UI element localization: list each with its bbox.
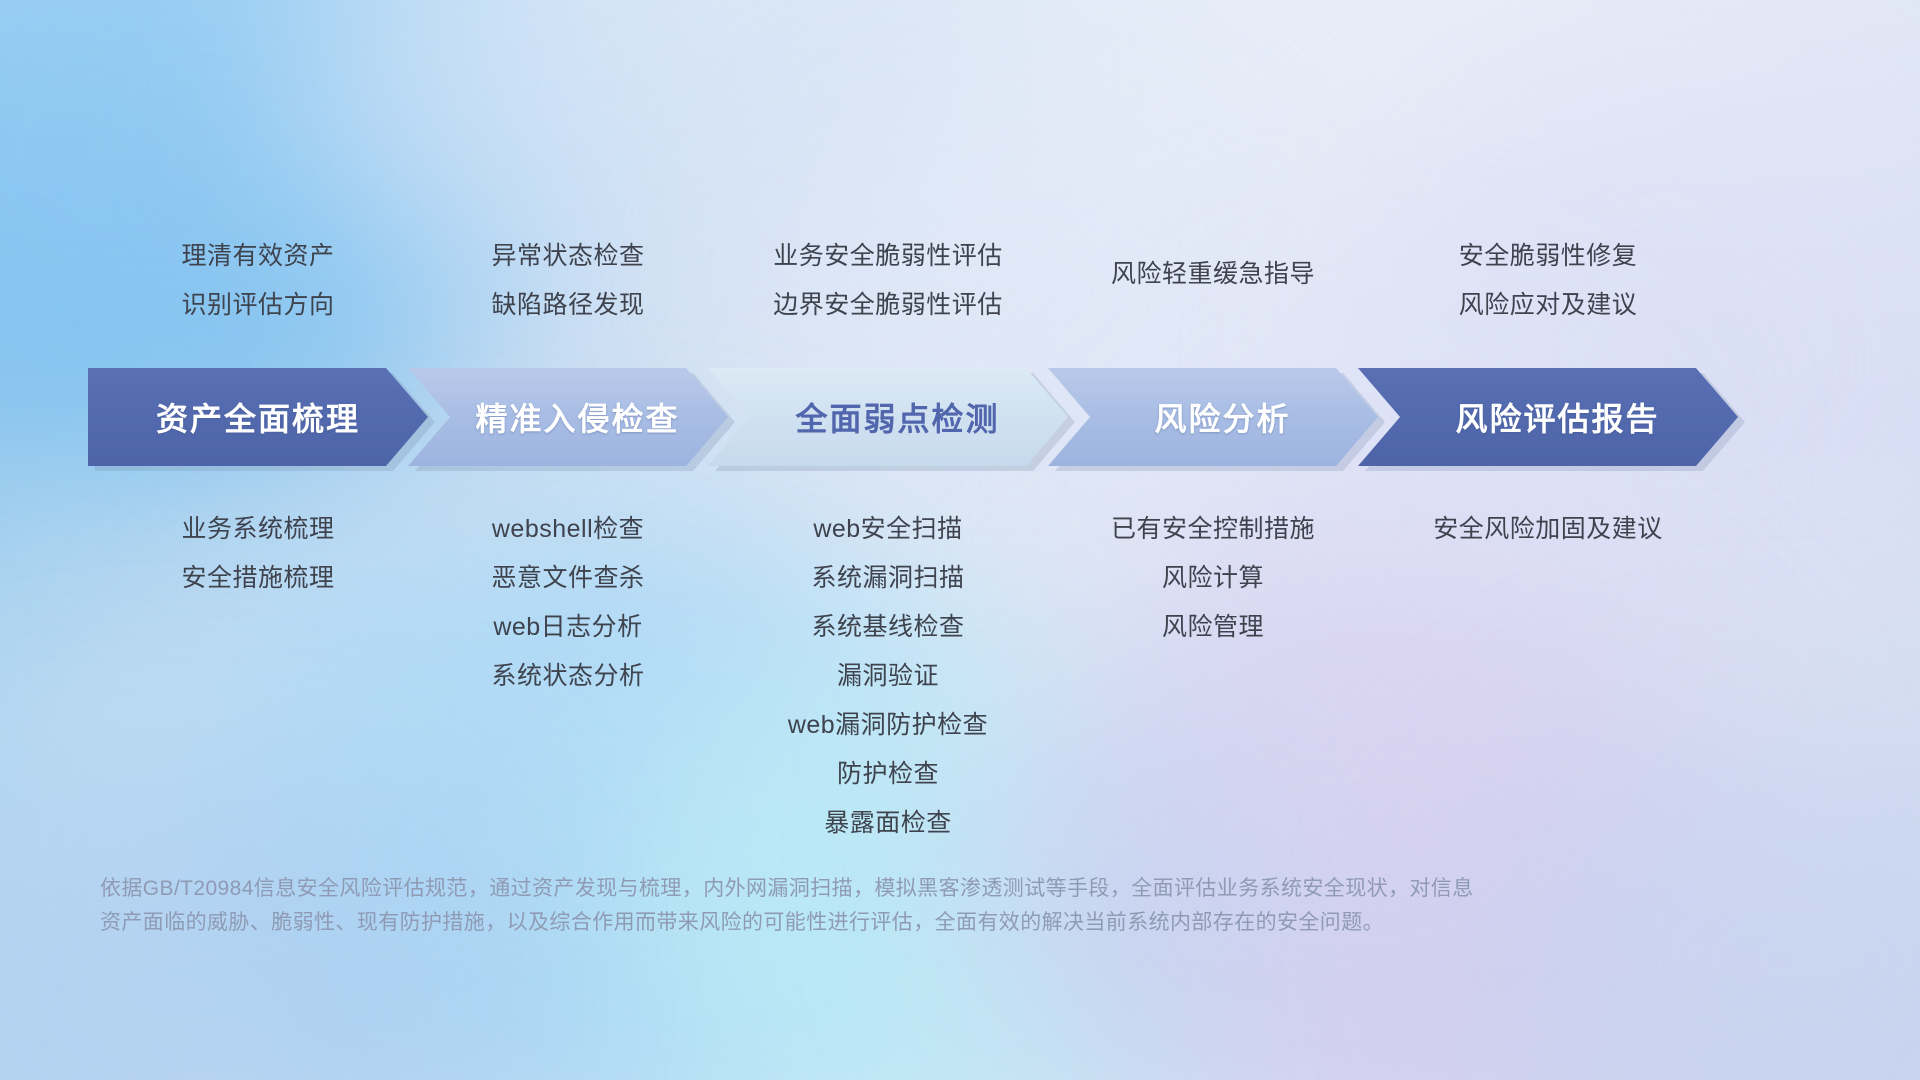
stage-detail-item: webshell检查 <box>408 505 728 554</box>
top-labels-intrusion-check: 异常状态检查缺陷路径发现 <box>408 232 728 330</box>
stage-detail-item: 业务安全脆弱性评估 <box>708 232 1068 281</box>
chevron-label: 精准入侵检查 <box>475 394 679 440</box>
stage-detail-item: 边界安全脆弱性评估 <box>708 281 1068 330</box>
stage-detail-item: 风险应对及建议 <box>1358 281 1738 330</box>
bottom-labels-weakness-detection: web安全扫描系统漏洞扫描系统基线检查漏洞验证web漏洞防护检查防护检查暴露面检… <box>708 505 1068 848</box>
stage-detail-item: 暴露面检查 <box>708 799 1068 848</box>
bottom-labels-intrusion-check: webshell检查恶意文件查杀web日志分析系统状态分析 <box>408 505 728 701</box>
slide-canvas: 理清有效资产识别评估方向异常状态检查缺陷路径发现业务安全脆弱性评估边界安全脆弱性… <box>0 0 1920 1080</box>
bottom-labels-risk-analysis: 已有安全控制措施风险计算风险管理 <box>1048 505 1378 652</box>
footer-line-1: 依据GB/T20984信息安全风险评估规范，通过资产发现与梳理，内外网漏洞扫描，… <box>100 872 1630 906</box>
stage-detail-item: 系统基线检查 <box>708 603 1068 652</box>
stage-detail-item: 安全风险加固及建议 <box>1358 505 1738 554</box>
stage-detail-item: 理清有效资产 <box>88 232 428 281</box>
process-stage-risk-analysis[interactable]: 风险分析 <box>1048 368 1378 466</box>
stage-detail-item: 安全脆弱性修复 <box>1358 232 1738 281</box>
stage-detail-item: 风险轻重缓急指导 <box>1048 250 1378 299</box>
stage-top-labels-row: 理清有效资产识别评估方向异常状态检查缺陷路径发现业务安全脆弱性评估边界安全脆弱性… <box>0 232 1920 352</box>
stage-detail-item: 防护检查 <box>708 750 1068 799</box>
top-labels-risk-analysis: 风险轻重缓急指导 <box>1048 250 1378 299</box>
stage-detail-item: 系统状态分析 <box>408 652 728 701</box>
stage-detail-item: 漏洞验证 <box>708 652 1068 701</box>
chevron-label: 全面弱点检测 <box>795 394 999 440</box>
stage-detail-item: 缺陷路径发现 <box>408 281 728 330</box>
stage-bottom-labels-row: 业务系统梳理安全措施梳理webshell检查恶意文件查杀web日志分析系统状态分… <box>0 505 1920 865</box>
top-labels-asset-inventory: 理清有效资产识别评估方向 <box>88 232 428 330</box>
top-labels-risk-report: 安全脆弱性修复风险应对及建议 <box>1358 232 1738 330</box>
footer-description: 依据GB/T20984信息安全风险评估规范，通过资产发现与梳理，内外网漏洞扫描，… <box>100 872 1630 940</box>
stage-detail-item: 风险管理 <box>1048 603 1378 652</box>
stage-detail-item: 安全措施梳理 <box>88 554 428 603</box>
process-stage-weakness-detection[interactable]: 全面弱点检测 <box>708 368 1068 466</box>
stage-detail-item: 识别评估方向 <box>88 281 428 330</box>
stage-detail-item: web日志分析 <box>408 603 728 652</box>
process-stage-asset-inventory[interactable]: 资产全面梳理 <box>88 368 428 466</box>
stage-detail-item: 恶意文件查杀 <box>408 554 728 603</box>
stage-detail-item: 业务系统梳理 <box>88 505 428 554</box>
stage-detail-item: 异常状态检查 <box>408 232 728 281</box>
chevron-label: 风险分析 <box>1154 394 1290 440</box>
process-stage-intrusion-check[interactable]: 精准入侵检查 <box>408 368 728 466</box>
stage-detail-item: 系统漏洞扫描 <box>708 554 1068 603</box>
process-chevron-band: 资产全面梳理精准入侵检查全面弱点检测风险分析风险评估报告 <box>0 368 1920 466</box>
process-stage-risk-report[interactable]: 风险评估报告 <box>1358 368 1738 466</box>
stage-detail-item: web安全扫描 <box>708 505 1068 554</box>
chevron-label: 资产全面梳理 <box>156 394 360 440</box>
bottom-labels-asset-inventory: 业务系统梳理安全措施梳理 <box>88 505 428 603</box>
chevron-label: 风险评估报告 <box>1455 394 1659 440</box>
stage-detail-item: web漏洞防护检查 <box>708 701 1068 750</box>
bottom-labels-risk-report: 安全风险加固及建议 <box>1358 505 1738 554</box>
top-labels-weakness-detection: 业务安全脆弱性评估边界安全脆弱性评估 <box>708 232 1068 330</box>
stage-detail-item: 已有安全控制措施 <box>1048 505 1378 554</box>
footer-line-2: 资产面临的威胁、脆弱性、现有防护措施，以及综合作用而带来风险的可能性进行评估，全… <box>100 906 1630 940</box>
stage-detail-item: 风险计算 <box>1048 554 1378 603</box>
